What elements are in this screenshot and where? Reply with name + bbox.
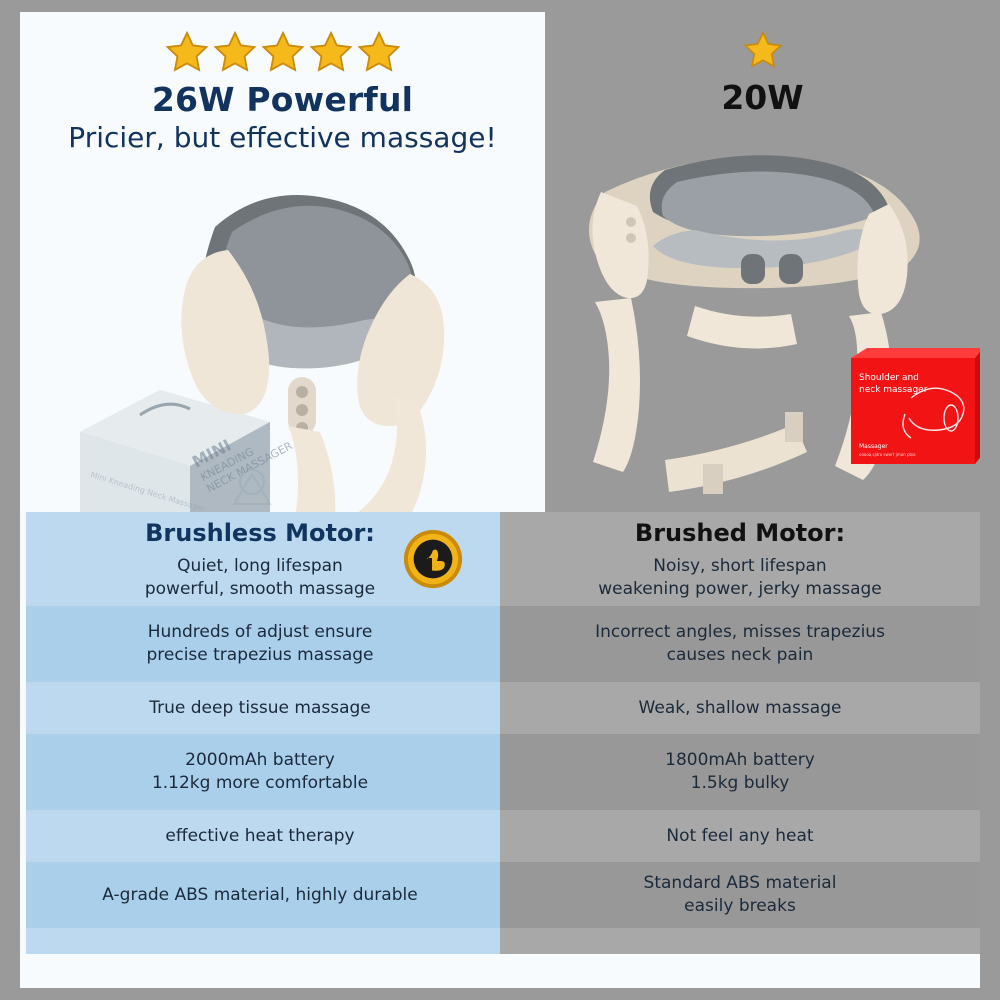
thumbs-up-gold-seal-icon bbox=[402, 528, 464, 590]
table-bottom-spacer bbox=[500, 928, 980, 954]
right-row-line: Incorrect angles, misses trapezius bbox=[595, 621, 885, 644]
star-icon bbox=[261, 30, 305, 74]
left-product-image: MINI KNEADING NECK MASSAGER Mini Kneadin… bbox=[20, 132, 545, 512]
left-row-line: Quiet, long lifespan bbox=[177, 555, 343, 578]
table-row: Not feel any heat bbox=[500, 810, 980, 862]
table-row: Brushed Motor: Noisy, short lifespan wea… bbox=[500, 512, 980, 606]
left-row-line: A-grade ABS material, highly durable bbox=[102, 884, 417, 907]
right-row-line: weakening power, jerky massage bbox=[598, 578, 882, 601]
comparison-right-column: Brushed Motor: Noisy, short lifespan wea… bbox=[500, 512, 980, 954]
comparison-table: Brushless Motor: Quiet, long lifespan po… bbox=[20, 512, 980, 954]
left-title: 26W Powerful bbox=[20, 80, 545, 119]
left-retail-box: MINI KNEADING NECK MASSAGER Mini Kneadin… bbox=[76, 390, 295, 512]
right-retail-box: Shoulder and neck massager Massager oooo… bbox=[851, 348, 980, 464]
right-star-rating bbox=[545, 30, 980, 70]
right-row-line: Not feel any heat bbox=[666, 825, 813, 848]
table-row: A-grade ABS material, highly durable bbox=[20, 862, 500, 928]
table-row: 1800mAh battery 1.5kg bulky bbox=[500, 734, 980, 810]
table-row: Brushless Motor: Quiet, long lifespan po… bbox=[20, 512, 500, 606]
right-row-line: Weak, shallow massage bbox=[639, 697, 842, 720]
table-row: Hundreds of adjust ensure precise trapez… bbox=[20, 606, 500, 682]
star-icon bbox=[213, 30, 257, 74]
star-icon bbox=[357, 30, 401, 74]
table-row: Standard ABS material easily breaks bbox=[500, 862, 980, 928]
table-bottom-spacer bbox=[20, 928, 500, 954]
star-icon bbox=[309, 30, 353, 74]
right-row-line: 1800mAh battery bbox=[665, 749, 815, 772]
left-star-rating bbox=[20, 30, 545, 74]
table-row: Weak, shallow massage bbox=[500, 682, 980, 734]
left-product-panel: 26W Powerful Pricier, but effective mass… bbox=[20, 12, 545, 512]
right-product-panel: 20W bbox=[545, 12, 980, 512]
left-white-edge bbox=[20, 512, 26, 954]
left-row-line: precise trapezius massage bbox=[146, 644, 373, 667]
right-row-line: 1.5kg bulky bbox=[691, 772, 790, 795]
right-product-image: Shoulder and neck massager Massager oooo… bbox=[545, 112, 980, 512]
svg-text:ooooo,sjdrx swert jmon ptos: ooooo,sjdrx swert jmon ptos bbox=[859, 452, 916, 457]
star-icon bbox=[743, 30, 783, 70]
comparison-left-column: Brushless Motor: Quiet, long lifespan po… bbox=[20, 512, 500, 954]
star-icon bbox=[165, 30, 209, 74]
svg-text:Massager: Massager bbox=[859, 443, 888, 450]
bottom-white-strip bbox=[20, 954, 980, 988]
right-row-line: Noisy, short lifespan bbox=[653, 555, 826, 578]
svg-text:Shoulder and: Shoulder and bbox=[859, 373, 919, 383]
right-row-line: causes neck pain bbox=[667, 644, 814, 667]
left-row-line: 2000mAh battery bbox=[185, 749, 335, 772]
table-row: True deep tissue massage bbox=[20, 682, 500, 734]
left-row-line: 1.12kg more comfortable bbox=[152, 772, 368, 795]
hero-section: 26W Powerful Pricier, but effective mass… bbox=[20, 12, 980, 512]
left-row-line: effective heat therapy bbox=[165, 825, 354, 848]
left-row-line: powerful, smooth massage bbox=[145, 578, 375, 601]
left-row-line: Hundreds of adjust ensure bbox=[148, 621, 373, 644]
table-row: 2000mAh battery 1.12kg more comfortable bbox=[20, 734, 500, 810]
table-row: Incorrect angles, misses trapezius cause… bbox=[500, 606, 980, 682]
right-row-title: Brushed Motor: bbox=[635, 517, 845, 549]
table-row: effective heat therapy bbox=[20, 810, 500, 862]
left-row-title: Brushless Motor: bbox=[145, 517, 375, 549]
left-row-line: True deep tissue massage bbox=[149, 697, 371, 720]
right-row-line: easily breaks bbox=[684, 895, 796, 918]
comparison-infographic: 26W Powerful Pricier, but effective mass… bbox=[0, 0, 1000, 1000]
right-row-line: Standard ABS material bbox=[644, 872, 837, 895]
